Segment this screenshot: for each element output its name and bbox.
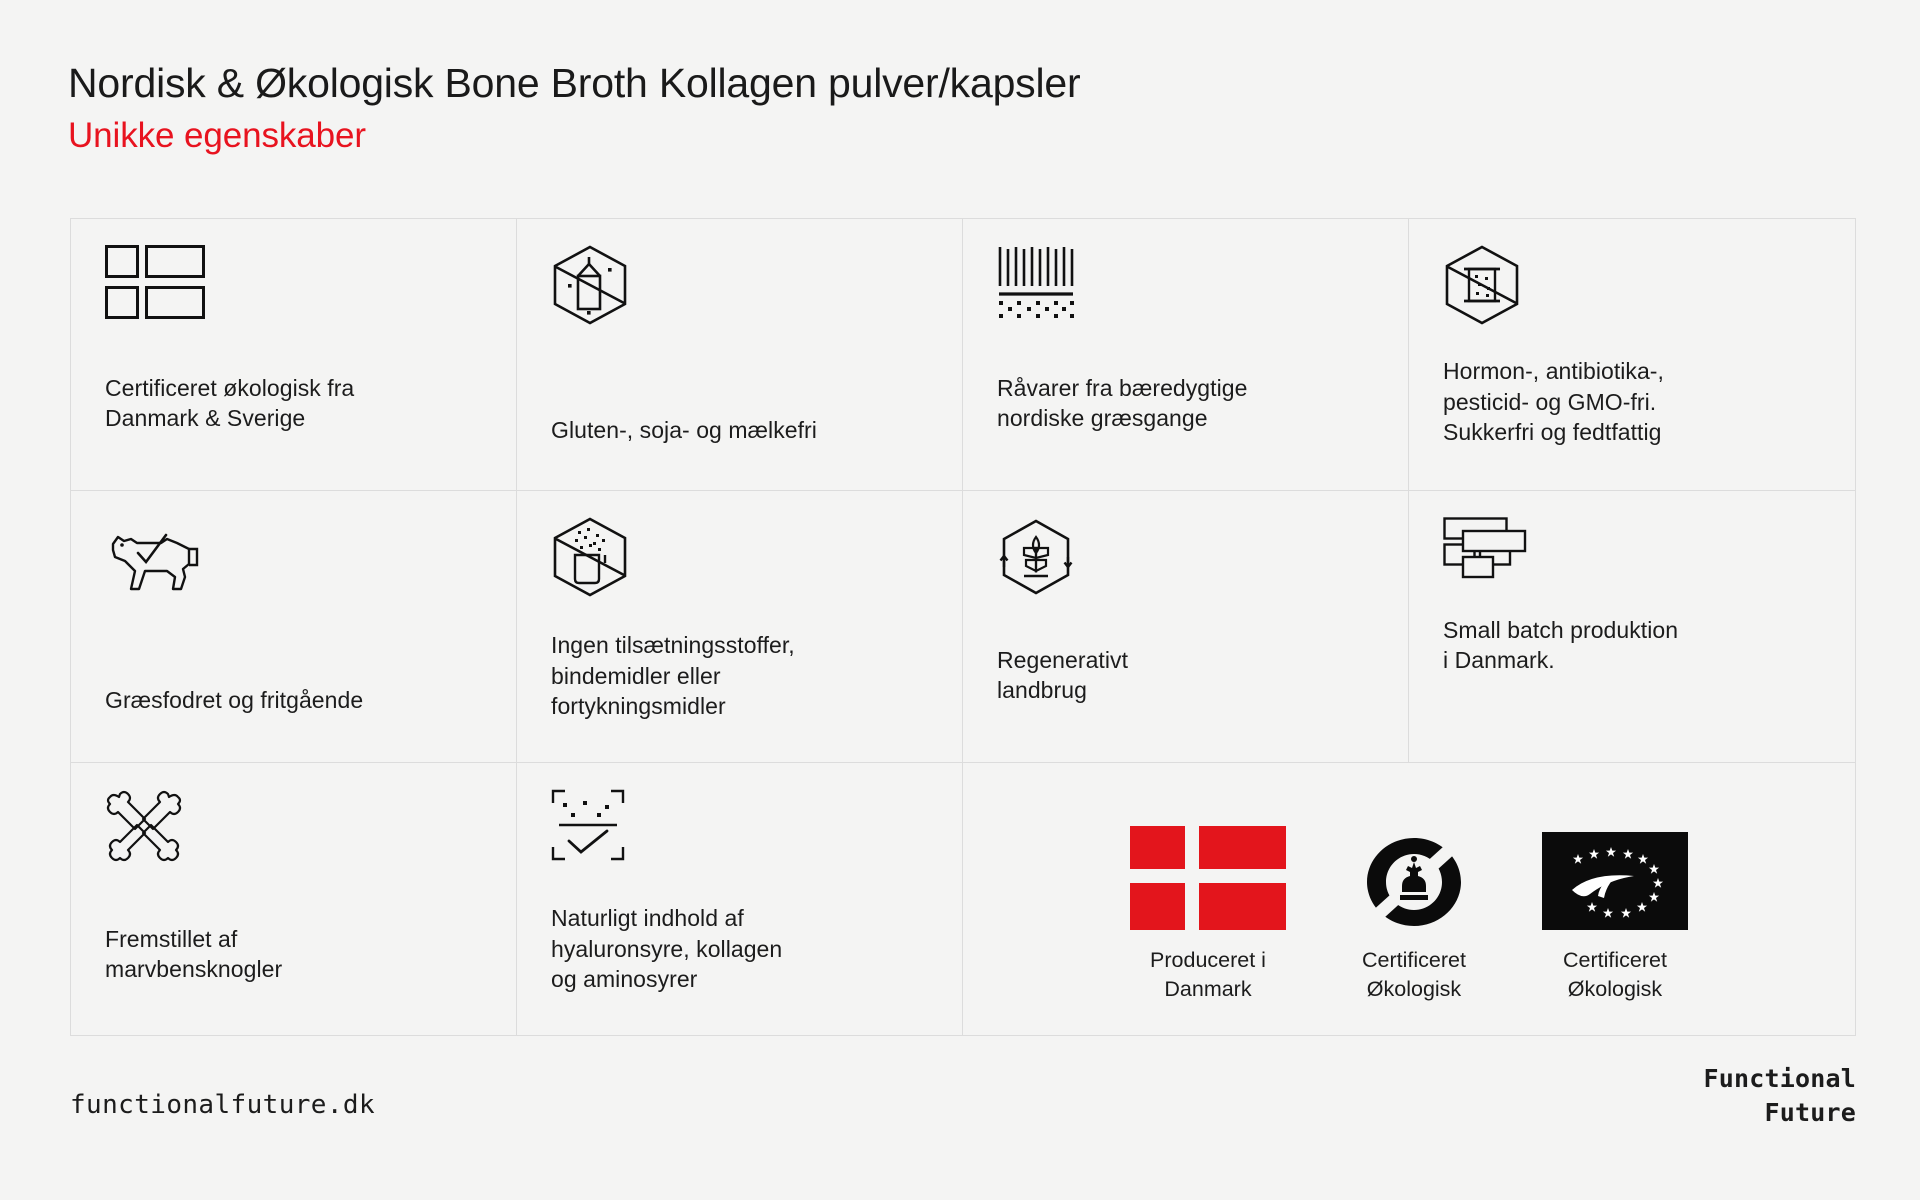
logo-produced-in-denmark: Produceret i Danmark bbox=[1130, 826, 1286, 1003]
feature-label: Regenerativt landbrug bbox=[997, 645, 1376, 710]
feature-cell-grass-fed: Græsfodret og fritgående bbox=[71, 491, 517, 763]
feature-label: Small batch produktion i Danmark. bbox=[1443, 615, 1823, 680]
brand-logo: Functional Future bbox=[1703, 1062, 1856, 1129]
feature-grid: Certificeret økologisk fra Danmark & Sve… bbox=[70, 218, 1856, 1036]
feature-cell-hormone-free: Hormon-, antibiotika-, pesticid- og GMO-… bbox=[1409, 219, 1855, 491]
small-batch-boxes-icon bbox=[1443, 517, 1823, 615]
feature-label: Hormon-, antibiotika-, pesticid- og GMO-… bbox=[1443, 356, 1823, 452]
website-url[interactable]: functionalfuture.dk bbox=[70, 1090, 375, 1120]
logo-caption: Produceret i Danmark bbox=[1150, 946, 1266, 1003]
feature-cell-sustainable-pasture: Råvarer fra bæredygtige nordiske græsgan… bbox=[963, 219, 1409, 491]
brand-line-1: Functional bbox=[1703, 1062, 1856, 1096]
page-subtitle: Unikke egenskaber bbox=[68, 115, 1080, 157]
logo-caption: Certificeret Økologisk bbox=[1563, 946, 1667, 1003]
natural-content-check-icon bbox=[551, 789, 930, 899]
feature-label: Certificeret økologisk fra Danmark & Sve… bbox=[105, 373, 484, 438]
regenerative-wheat-hexagon-icon bbox=[997, 517, 1376, 627]
certification-logos-cell: Produceret i Danmark Certificeret Økolog… bbox=[963, 763, 1855, 1035]
no-thickener-hexagon-icon bbox=[551, 517, 930, 627]
page-title: Nordisk & Økologisk Bone Broth Kollagen … bbox=[68, 60, 1080, 107]
logo-caption: Certificeret Økologisk bbox=[1362, 946, 1466, 1003]
feature-cell-natural-content: Naturligt indhold af hyaluronsyre, kolla… bbox=[517, 763, 963, 1035]
feature-label: Fremstillet af marvbensknogler bbox=[105, 924, 484, 989]
feature-cell-marrow-bones: Fremstillet af marvbensknogler bbox=[71, 763, 517, 1035]
feature-cell-organic-certified: Certificeret økologisk fra Danmark & Sve… bbox=[71, 219, 517, 491]
no-additives-hexagon-icon bbox=[1443, 245, 1823, 355]
danish-flag-icon bbox=[1130, 826, 1286, 930]
infographic-page: Nordisk & Økologisk Bone Broth Kollagen … bbox=[0, 0, 1920, 1200]
marrow-bones-icon bbox=[105, 789, 484, 899]
grid-blocks-icon bbox=[105, 245, 484, 355]
cow-check-icon bbox=[105, 517, 484, 627]
feature-cell-regenerative: Regenerativt landbrug bbox=[963, 491, 1409, 763]
feature-label: Ingen tilsætningsstoffer, bindemidler el… bbox=[551, 630, 930, 726]
certification-logos: Produceret i Danmark Certificeret Økolog… bbox=[1003, 789, 1815, 1009]
logo-danish-organic: Certificeret Økologisk bbox=[1358, 834, 1470, 1003]
danish-organic-o-icon bbox=[1358, 834, 1470, 930]
feature-cell-small-batch: Small batch produktion i Danmark. bbox=[1409, 491, 1855, 763]
feature-label: Naturligt indhold af hyaluronsyre, kolla… bbox=[551, 903, 930, 999]
feature-label: Græsfodret og fritgående bbox=[105, 685, 484, 720]
feature-cell-gluten-soy-milk-free: Gluten-, soja- og mælkefri bbox=[517, 219, 963, 491]
logo-eu-organic: Certificeret Økologisk bbox=[1542, 832, 1688, 1003]
header: Nordisk & Økologisk Bone Broth Kollagen … bbox=[68, 60, 1080, 157]
feature-label: Råvarer fra bæredygtige nordiske græsgan… bbox=[997, 373, 1376, 438]
feature-label: Gluten-, soja- og mælkefri bbox=[551, 415, 930, 450]
brand-line-2: Future bbox=[1703, 1096, 1856, 1130]
eu-organic-leaf-icon bbox=[1542, 832, 1688, 930]
grass-pasture-icon bbox=[997, 245, 1376, 355]
feature-cell-no-additives: Ingen tilsætningsstoffer, bindemidler el… bbox=[517, 491, 963, 763]
no-milk-hexagon-icon bbox=[551, 245, 930, 355]
